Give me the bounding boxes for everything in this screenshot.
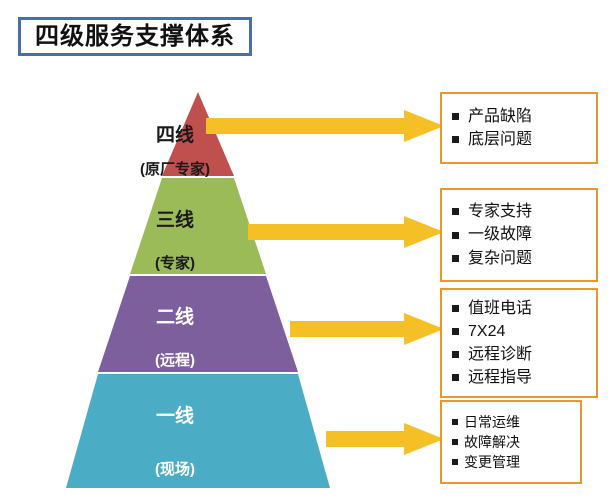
callout-2-item-2: 复杂问题 <box>452 247 588 270</box>
callout-box-4: 日常运维 故障解决 变更管理 <box>440 400 582 484</box>
callout-1-item-0: 产品缺陷 <box>452 105 588 128</box>
pyramid-diagram: 四线 (原厂专家) 三线 (专家) 二线 (远程) 一线 (现场) <box>10 84 340 494</box>
square-bullet-icon <box>452 459 458 465</box>
page-title: 四级服务支撑体系 <box>35 25 235 49</box>
square-bullet-icon <box>452 374 459 381</box>
arrow-to-callout-4 <box>326 423 446 457</box>
callout-box-1: 产品缺陷 底层问题 <box>440 92 598 164</box>
arrow-to-callout-2 <box>248 216 446 250</box>
square-bullet-icon <box>452 328 459 335</box>
square-bullet-icon <box>452 113 459 120</box>
square-bullet-icon <box>452 439 458 445</box>
square-bullet-icon <box>452 208 459 215</box>
callout-4-item-1: 故障解决 <box>452 432 572 452</box>
callout-3-item-1: 7X24 <box>452 320 588 343</box>
square-bullet-icon <box>452 419 458 425</box>
callout-4-item-0: 日常运维 <box>452 412 572 432</box>
callout-3-item-2: 远程诊断 <box>452 343 588 366</box>
callout-4-item-2: 变更管理 <box>452 452 572 472</box>
square-bullet-icon <box>452 305 459 312</box>
callout-2-item-0: 专家支持 <box>452 200 588 223</box>
pyramid-tier-1-shape <box>66 374 330 488</box>
pyramid-tier-3-shape <box>130 178 266 274</box>
callout-1-item-1: 底层问题 <box>452 128 588 151</box>
arrow-to-callout-1 <box>206 110 446 144</box>
square-bullet-icon <box>452 232 459 239</box>
callout-3-item-3: 远程指导 <box>452 366 588 389</box>
arrow-to-callout-3 <box>290 313 446 347</box>
pyramid-tier-2-shape <box>98 276 298 372</box>
callout-box-3: 值班电话 7X24 远程诊断 远程指导 <box>440 288 598 398</box>
square-bullet-icon <box>452 255 459 262</box>
square-bullet-icon <box>452 351 459 358</box>
callout-box-2: 专家支持 一级故障 复杂问题 <box>440 188 598 282</box>
square-bullet-icon <box>452 136 459 143</box>
callout-2-item-1: 一级故障 <box>452 223 588 246</box>
callout-3-item-0: 值班电话 <box>452 297 588 320</box>
page-title-box: 四级服务支撑体系 <box>18 17 252 56</box>
diagram-canvas: 四级服务支撑体系 四线 (原厂专家) 三线 (专家) 二线 (远程) 一线 (现… <box>0 0 612 500</box>
